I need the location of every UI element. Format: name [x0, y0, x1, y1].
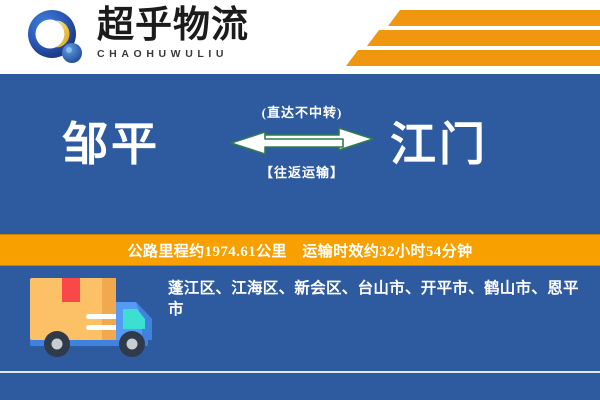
logistics-route-banner: 超乎物流 CHAOHUWULIU 邹平 (直达不中转) [0, 0, 600, 400]
route-note-roundtrip: 【往返运输】 [218, 162, 386, 181]
route-note-direct: (直达不中转) [218, 102, 386, 121]
coverage-districts-text: 蓬江区、江海区、新会区、台山市、开平市、鹤山市、恩平市 [168, 278, 588, 320]
banner-body: 邹平 (直达不中转) 【往返运输】 江门 公路里程约1974.61公里 运输时效… [0, 74, 600, 400]
decorative-stripes [330, 0, 600, 74]
origin-city: 邹平 [62, 108, 160, 174]
route-row: 邹平 (直达不中转) 【往返运输】 江门 [0, 74, 600, 234]
stripe-2 [367, 30, 600, 46]
delivery-truck-icon [24, 272, 162, 364]
brand-name-en: CHAOHUWULIU [97, 47, 297, 61]
footer-band [0, 373, 600, 400]
stripe-1 [388, 10, 600, 26]
route-middle: (直达不中转) 【往返运输】 [218, 102, 386, 181]
destination-city: 江门 [390, 108, 488, 174]
route-info-bar: 公路里程约1974.61公里 运输时效约32小时54分钟 [0, 234, 600, 266]
stripe-3 [346, 50, 600, 66]
banner-header: 超乎物流 CHAOHUWULIU [0, 0, 600, 74]
brand-lockup: 超乎物流 CHAOHUWULIU [97, 6, 297, 61]
double-headed-arrow-icon [227, 126, 377, 156]
circle-crescent-logo-icon [26, 9, 88, 67]
coverage-area: 蓬江区、江海区、新会区、台山市、开平市、鹤山市、恩平市 [0, 266, 600, 372]
brand-name-cn: 超乎物流 [97, 6, 297, 46]
route-info-text: 公路里程约1974.61公里 运输时效约32小时54分钟 [128, 240, 473, 261]
